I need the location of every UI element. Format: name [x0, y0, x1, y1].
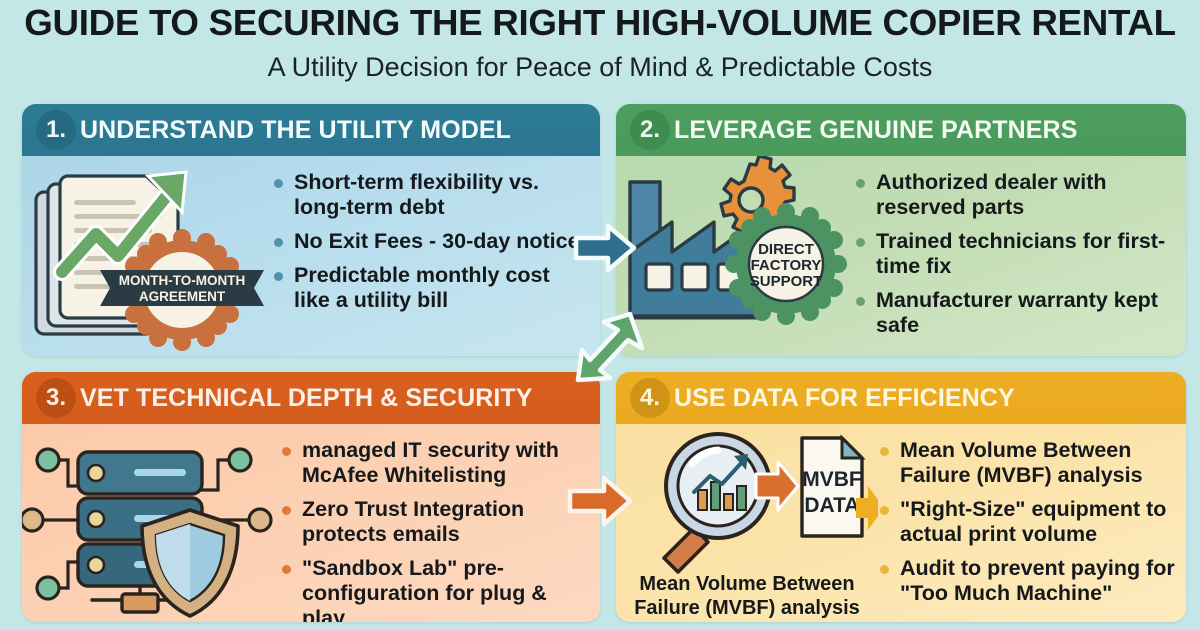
factory-gear-icon: DIRECT FACTORY SUPPORT [616, 156, 854, 356]
magnifier-icon [664, 434, 770, 572]
page-subtitle: A Utility Decision for Peace of Mind & P… [0, 52, 1200, 83]
list-item: Mean Volume Between Failure (MVBF) analy… [878, 438, 1176, 488]
list-item: No Exit Fees - 30-day notice [272, 229, 590, 254]
panel1-bullet-list: Short-term flexibility vs. long-term deb… [272, 156, 600, 356]
list-item: managed IT security with McAfee Whitelis… [280, 438, 590, 488]
panel4-header: 4. USE DATA FOR EFFICIENCY [616, 372, 1186, 424]
panel-use-data-for-efficiency: 4. USE DATA FOR EFFICIENCY [616, 372, 1186, 622]
panel3-bullet-list: managed IT security with McAfee Whitelis… [280, 424, 600, 622]
panel-leverage-genuine-partners: 2. LEVERAGE GENUINE PARTNERS [616, 104, 1186, 356]
infographic-canvas: GUIDE TO SECURING THE RIGHT HIGH-VOLUME … [0, 0, 1200, 630]
server-rack-shield-network-icon [22, 424, 280, 622]
panel1-body: MONTH-TO-MONTH AGREEMENT Short-term flex… [22, 156, 600, 356]
list-item: Zero Trust Integration protects emails [280, 497, 590, 547]
panel-understand-utility-model: 1. UNDERSTAND THE UTILITY MODEL [22, 104, 600, 356]
panel1-header: 1. UNDERSTAND THE UTILITY MODEL [22, 104, 600, 156]
arrow-panel3-to-panel4 [566, 474, 636, 533]
list-item: "Sandbox Lab" pre-configuration for plug… [280, 556, 590, 622]
page-title: GUIDE TO SECURING THE RIGHT HIGH-VOLUME … [0, 2, 1200, 44]
list-item: Authorized dealer with reserved parts [854, 170, 1176, 220]
panel2-body: DIRECT FACTORY SUPPORT Authorized dealer… [616, 156, 1186, 356]
panel-vet-technical-depth-security: 3. VET TECHNICAL DEPTH & SECURITY [22, 372, 600, 622]
seal-line-3: SUPPORT [750, 273, 823, 290]
panel3-title: VET TECHNICAL DEPTH & SECURITY [80, 384, 533, 413]
panel1-number-badge: 1. [36, 110, 76, 150]
panel4-bullet-list: Mean Volume Between Failure (MVBF) analy… [878, 424, 1186, 622]
panel2-artwork: DIRECT FACTORY SUPPORT [616, 156, 854, 356]
panel1-title: UNDERSTAND THE UTILITY MODEL [80, 116, 511, 145]
panel4-artwork: MVBF DATA Mean Volume Between Failure (M… [616, 424, 878, 622]
arrow-panel2-to-panel3 [570, 308, 650, 391]
mvbf-document-icon: MVBF DATA [802, 438, 862, 536]
document-line-1: MVBF [802, 468, 862, 491]
stacked-documents-growth-arrow-icon: MONTH-TO-MONTH AGREEMENT [22, 156, 272, 356]
list-item: Manufacturer warranty kept safe [854, 288, 1176, 338]
panel3-number-badge: 3. [36, 378, 76, 418]
seal-line-1: DIRECT [758, 241, 814, 258]
panel3-body: managed IT security with McAfee Whitelis… [22, 424, 600, 622]
list-item: Predictable monthly cost like a utility … [272, 263, 590, 313]
seal-line-2: FACTORY [751, 257, 822, 274]
list-item: Audit to prevent paying for "Too Much Ma… [878, 556, 1176, 606]
panel2-number-badge: 2. [630, 110, 670, 150]
list-item: "Right-Size" equipment to actual print v… [878, 497, 1176, 547]
seal-line-1: MONTH-TO-MONTH [119, 273, 245, 288]
panel4-body: MVBF DATA Mean Volume Between Failure (M… [616, 424, 1186, 622]
panel3-artwork [22, 424, 280, 622]
panel1-artwork: MONTH-TO-MONTH AGREEMENT [22, 156, 272, 356]
panel2-bullet-list: Authorized dealer with reserved parts Tr… [854, 156, 1186, 356]
list-item: Short-term flexibility vs. long-term deb… [272, 170, 590, 220]
panel4-title: USE DATA FOR EFFICIENCY [674, 384, 1015, 413]
document-line-2: DATA [804, 494, 859, 517]
magnifier-chart-document-icon: MVBF DATA [616, 424, 878, 574]
panel3-header: 3. VET TECHNICAL DEPTH & SECURITY [22, 372, 600, 424]
arrow-panel1-to-panel2 [572, 222, 638, 279]
list-item: Trained technicians for first-time fix [854, 229, 1176, 279]
seal-line-2: AGREEMENT [139, 289, 226, 304]
panel4-artwork-caption: Mean Volume Between Failure (MVBF) analy… [622, 572, 872, 620]
panel2-header: 2. LEVERAGE GENUINE PARTNERS [616, 104, 1186, 156]
panel2-title: LEVERAGE GENUINE PARTNERS [674, 116, 1077, 145]
